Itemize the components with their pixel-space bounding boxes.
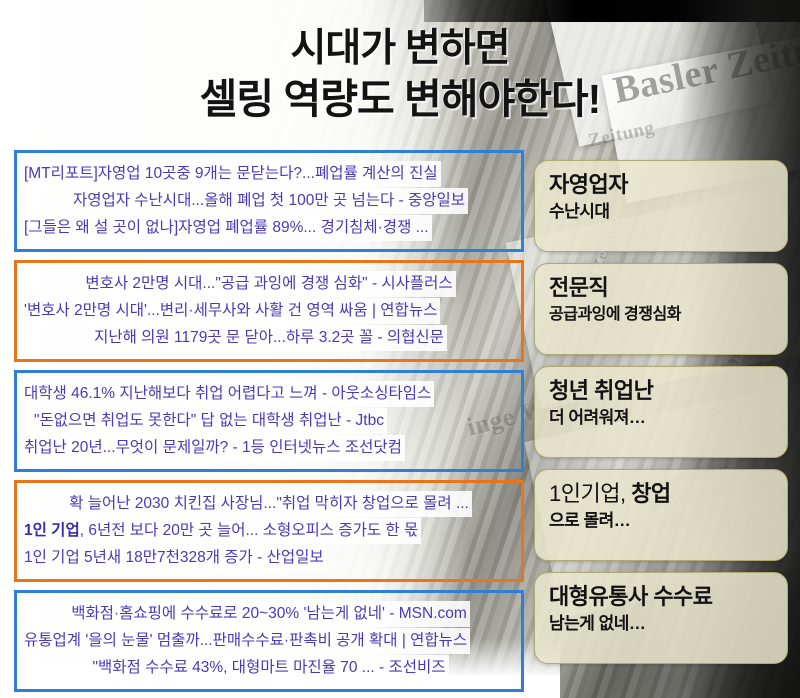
news-line-with-bold: 1인 기업, 6년전 보다 20만 곳 늘어... 소형오피스 증가도 한 몫 bbox=[21, 518, 421, 544]
summary-card-title-regular: 1인기업, bbox=[549, 481, 631, 506]
summary-card-subtitle: 으로 몰려… bbox=[549, 508, 775, 533]
summary-card-subtitle: 수난시대 bbox=[549, 199, 775, 224]
news-box-professionals: 변호사 2만명 시대..."공급 과잉에 경쟁 심화" - 시사플러스 '변호사… bbox=[14, 260, 524, 362]
summary-card-group: 자영업자 수난시대 전문직 공급과잉에 경쟁심화 청년 취업난 더 어려워져… … bbox=[534, 160, 788, 675]
news-headline-group: [MT리포트]자영업 10곳중 9개는 문닫는다?...폐업률 계산의 진실 자… bbox=[14, 150, 524, 698]
news-line: 지난해 의원 1179곳 문 닫아...하루 3.2곳 꼴 - 의협신문 bbox=[91, 325, 447, 351]
news-line: [그들은 왜 설 곳이 없나]자영업 폐업률 89%... 경기침체·경쟁 ..… bbox=[21, 215, 432, 241]
summary-card-title: 대형유통사 수수료 bbox=[549, 583, 775, 611]
summary-card-title: 전문직 bbox=[549, 274, 775, 302]
summary-card-youth-employment: 청년 취업난 더 어려워져… bbox=[534, 366, 788, 458]
news-line: 취업난 20년...무엇이 문제일까? - 1등 인터넷뉴스 조선닷컴 bbox=[21, 435, 405, 461]
news-box-youth-employment: 대학생 46.1% 지난해보다 취업 어렵다고 느껴 - 아웃소싱타임스 "돈없… bbox=[14, 370, 524, 472]
summary-card-subtitle: 남는게 없네… bbox=[549, 611, 775, 636]
news-box-startups: 확 늘어난 2030 치킨집 사장님..."취업 막히자 창업으로 몰려 ...… bbox=[14, 480, 524, 582]
summary-card-title: 자영업자 bbox=[549, 171, 775, 199]
news-line: "백화점 수수료 43%, 대형마트 마진율 70 ... - 조선비즈 bbox=[89, 655, 448, 681]
summary-card-self-employed: 자영업자 수난시대 bbox=[534, 160, 788, 252]
news-line: '변호사 2만명 시대'...변리·세무사와 사활 건 영역 싸움 | 연합뉴스 bbox=[21, 298, 440, 324]
news-line: 유통업계 '을의 눈물' 멈출까...판매수수료·판촉비 공개 확대 | 연합뉴… bbox=[21, 628, 470, 654]
news-line: 1인 기업 5년새 18만7천328개 증가 - 산업일보 bbox=[21, 545, 327, 571]
news-box-self-employed: [MT리포트]자영업 10곳중 9개는 문닫는다?...폐업률 계산의 진실 자… bbox=[14, 150, 524, 252]
summary-card-subtitle: 더 어려워져… bbox=[549, 405, 775, 430]
news-line: 변호사 2만명 시대..."공급 과잉에 경쟁 심화" - 시사플러스 bbox=[82, 271, 455, 297]
summary-card-subtitle: 공급과잉에 경쟁심화 bbox=[549, 302, 775, 327]
news-box-retail-commission: 백화점·홈쇼핑에 수수료로 20~30% '남는게 없네' - MSN.com … bbox=[14, 590, 524, 692]
summary-card-retail-commission: 대형유통사 수수료 남는게 없네… bbox=[534, 572, 788, 664]
summary-card-title: 1인기업, 창업 bbox=[549, 480, 775, 508]
summary-card-title: 청년 취업난 bbox=[549, 377, 775, 405]
news-line: [MT리포트]자영업 10곳중 9개는 문닫는다?...폐업률 계산의 진실 bbox=[21, 161, 441, 187]
news-line: "돈없으면 취업도 못한다" 답 없는 대학생 취업난 - Jtbc bbox=[31, 408, 387, 434]
news-line: 확 늘어난 2030 치킨집 사장님..."취업 막히자 창업으로 몰려 ... bbox=[66, 491, 472, 517]
slide-canvas: Basler Zeitu Zeitung und Zeitung inge We… bbox=[0, 0, 800, 698]
news-line-rest: , 6년전 보다 20만 곳 늘어... 소형오피스 증가도 한 몫 bbox=[80, 522, 419, 539]
summary-card-professionals: 전문직 공급과잉에 경쟁심화 bbox=[534, 263, 788, 355]
news-line: 백화점·홈쇼핑에 수수료로 20~30% '남는게 없네' - MSN.com bbox=[68, 601, 470, 627]
news-line: 자영업자 수난시대...올해 폐업 첫 100만 곳 넘는다 - 중앙일보 bbox=[70, 188, 468, 214]
news-line-bold-prefix: 1인 기업 bbox=[24, 522, 80, 539]
summary-card-title-bold: 창업 bbox=[631, 481, 670, 506]
summary-card-startups: 1인기업, 창업 으로 몰려… bbox=[534, 469, 788, 561]
news-line: 대학생 46.1% 지난해보다 취업 어렵다고 느껴 - 아웃소싱타임스 bbox=[21, 381, 434, 407]
